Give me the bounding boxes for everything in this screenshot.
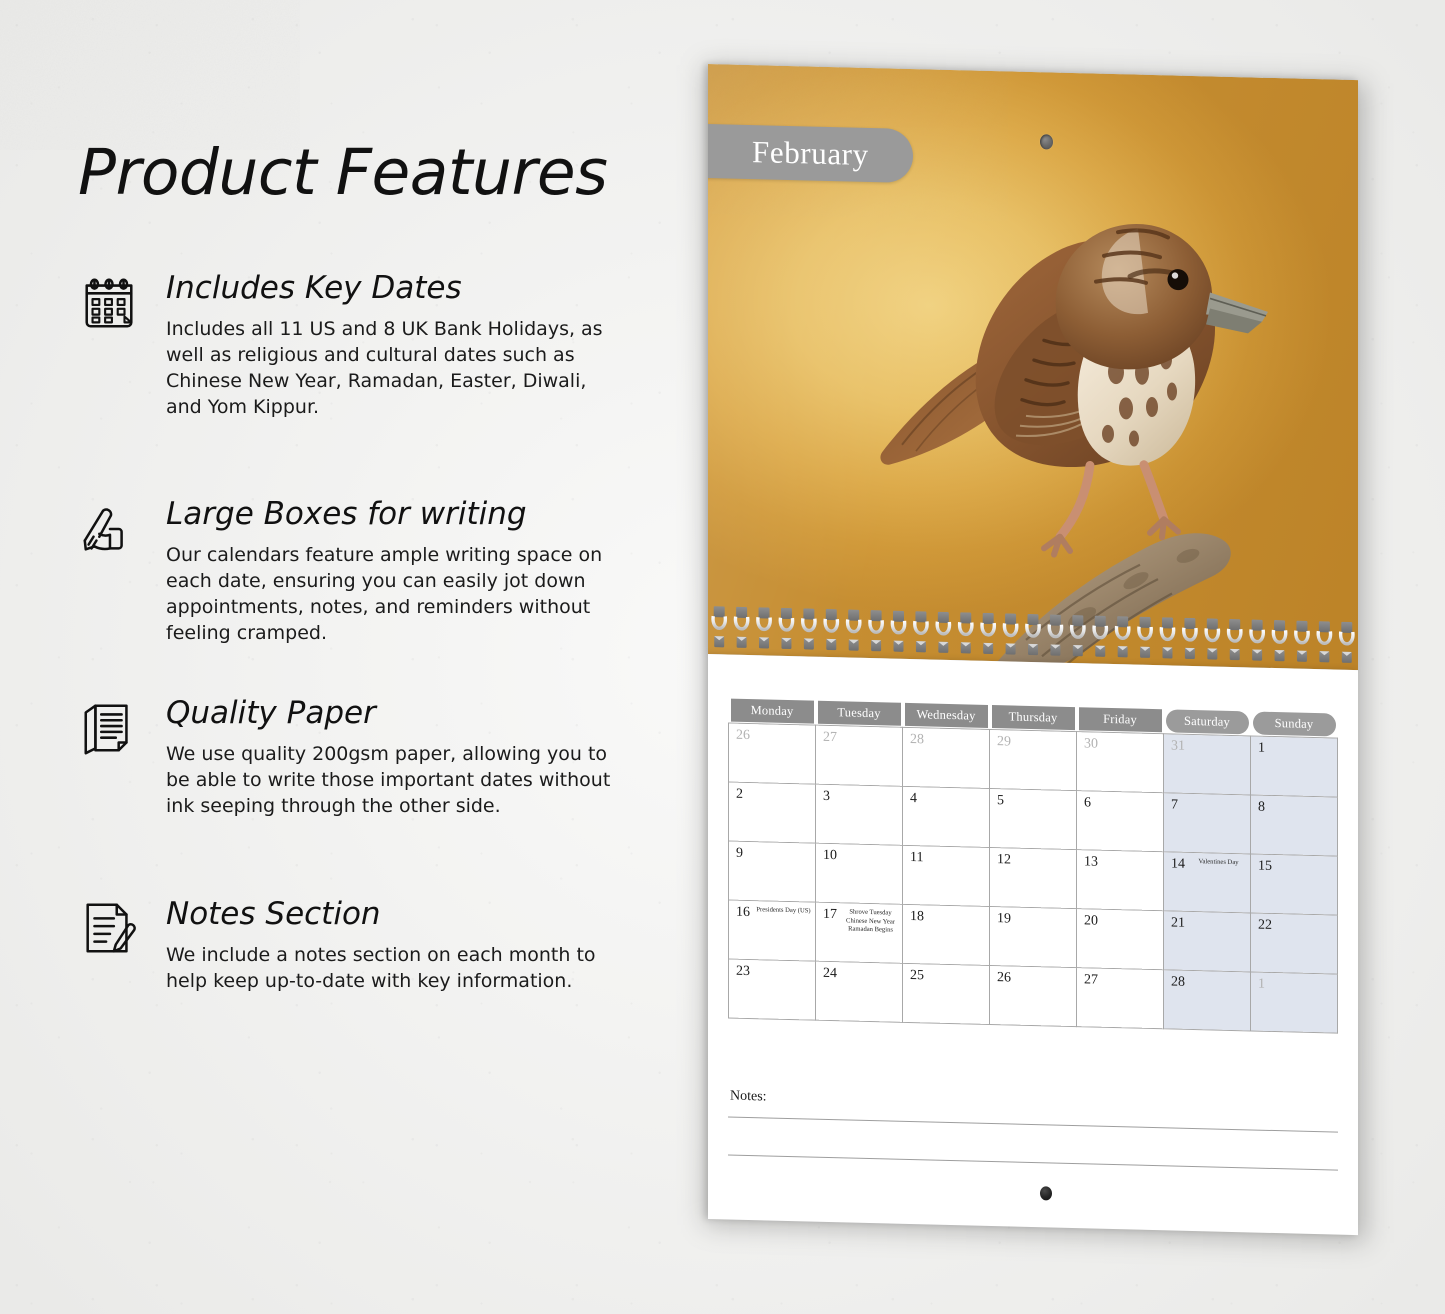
day-header-saturday: Saturday [1164,707,1251,736]
day-header-label: Monday [731,698,814,723]
feature-item-notes-section: Notes Section We include a notes section… [78,898,638,994]
day-number: 22 [1258,918,1272,934]
day-number: 26 [997,970,1011,986]
day-number: 4 [910,791,917,807]
day-number: 9 [736,846,743,862]
calendar-day-cell[interactable]: 11 [903,845,990,906]
calendar-table: MondayTuesdayWednesdayThursdayFridaySatu… [728,696,1338,1033]
calendar-day-cell[interactable]: 19 [990,906,1077,967]
calendar-day-cell[interactable]: 22 [1251,913,1338,974]
day-number: 13 [1084,854,1098,870]
day-event-label: Presidents Day (US) [755,906,812,916]
calendar-day-cell[interactable]: 25 [903,963,990,1024]
calendar-day-cell[interactable]: 3 [816,784,903,845]
day-events: Valentines Day [1190,858,1247,868]
calendar-day-cell[interactable]: 9 [729,841,816,902]
calendar-day-cell[interactable]: 28 [1164,970,1251,1031]
calendar-icon [78,272,140,334]
day-number: 10 [823,848,837,864]
calendar-day-cell[interactable]: 10 [816,843,903,904]
feature-body: We use quality 200gsm paper, allowing yo… [166,741,614,819]
calendar-day-cell[interactable]: 29 [990,729,1077,790]
calendar-day-cell[interactable]: 28 [903,727,990,788]
day-number: 11 [910,850,923,866]
page-title: Product Features [78,136,607,209]
calendar-day-cell[interactable]: 31 [1164,734,1251,795]
notes-section: Notes: [728,1086,1338,1201]
day-number: 30 [1084,736,1098,752]
day-header-label: Sunday [1253,711,1336,736]
month-label: February [752,134,869,173]
feature-item-key-dates: Includes Key Dates Includes all 11 US an… [78,272,638,420]
feature-body: Includes all 11 US and 8 UK Bank Holiday… [166,316,614,420]
day-header-wednesday: Wednesday [903,701,990,730]
day-number: 27 [823,730,837,746]
day-number: 5 [997,793,1004,809]
calendar-day-cell[interactable]: 4 [903,786,990,847]
day-event-label: Ramadan Begins [842,926,899,936]
calendar-product-photo: February MondayTuesdayWedne [700,58,1380,1248]
day-number: 6 [1084,795,1091,811]
notes-label: Notes: [730,1089,767,1106]
day-header-monday: Monday [729,697,816,726]
calendar-grid-page: MondayTuesdayWednesdayThursdayFridaySatu… [708,654,1358,1235]
day-number: 16 [736,905,750,921]
calendar-day-cell[interactable]: 23 [729,959,816,1020]
day-header-label: Friday [1079,707,1162,732]
day-number: 19 [997,911,1011,927]
day-number: 25 [910,968,924,984]
day-header-tuesday: Tuesday [816,699,903,728]
day-events: Presidents Day (US) [755,906,812,916]
calendar-table-zone: MondayTuesdayWednesdayThursdayFridaySatu… [728,696,1338,1033]
day-event-label: Valentines Day [1190,858,1247,868]
feature-heading: Notes Section [166,898,638,931]
calendar-photo-panel: February [708,64,1358,670]
calendar-day-cell[interactable]: 27 [1077,968,1164,1029]
day-header-friday: Friday [1077,705,1164,734]
calendar-day-cell[interactable]: 17Shrove TuesdayChinese New YearRamadan … [816,902,903,963]
day-number: 3 [823,789,830,805]
day-number: 7 [1171,797,1178,813]
calendar-day-cell[interactable]: 18 [903,904,990,965]
day-number: 18 [910,909,924,925]
day-number: 14 [1171,856,1185,872]
day-number: 29 [997,734,1011,750]
calendar-day-cell[interactable]: 21 [1164,911,1251,972]
feature-item-large-boxes: Large Boxes for writing Our calendars fe… [78,498,638,646]
notes-rule-line [728,1116,1338,1132]
day-number: 12 [997,852,1011,868]
calendar-day-cell[interactable]: 1 [1251,972,1338,1033]
calendar-day-cell[interactable]: 26 [990,965,1077,1026]
calendar-day-cell[interactable]: 13 [1077,850,1164,911]
day-header-label: Tuesday [818,700,901,725]
note-pencil-icon [78,898,140,960]
writing-hand-icon [78,498,140,560]
feature-body: We include a notes section on each month… [166,942,614,994]
sparrow-illustration [876,160,1296,670]
month-banner: February [708,123,913,183]
day-header-sunday: Sunday [1251,709,1338,738]
calendar-day-cell[interactable]: 14Valentines Day [1164,852,1251,913]
day-header-label: Wednesday [905,702,988,727]
calendar-day-cell[interactable]: 15 [1251,854,1338,915]
hanging-hole-bottom [1040,1186,1052,1200]
calendar-day-cell[interactable]: 5 [990,788,1077,849]
calendar-day-cell[interactable]: 2 [729,782,816,843]
day-number: 23 [736,964,750,980]
calendar-day-cell[interactable]: 7 [1164,793,1251,854]
day-header-thursday: Thursday [990,703,1077,732]
calendar-day-cell[interactable]: 12 [990,847,1077,908]
feature-heading: Quality Paper [166,697,638,730]
calendar-day-cell[interactable]: 26 [729,723,816,784]
features-column: Product Features Includes Key [0,0,690,1314]
day-number: 1 [1258,977,1265,993]
calendar-day-cell[interactable]: 30 [1077,732,1164,793]
day-number: 21 [1171,915,1185,931]
paper-stack-icon [78,697,140,759]
day-number: 15 [1258,859,1272,875]
hanging-hole-top [1040,134,1053,149]
notes-rule-line [728,1154,1338,1170]
calendar-day-cell[interactable]: 6 [1077,791,1164,852]
calendar-day-cell[interactable]: 24 [816,961,903,1022]
day-header-label: Saturday [1166,709,1249,734]
calendar-day-cell[interactable]: 1 [1251,736,1338,797]
calendar-day-cell[interactable]: 20 [1077,909,1164,970]
day-header-label: Thursday [992,705,1075,730]
day-number: 28 [910,732,924,748]
day-number: 26 [736,728,750,744]
day-number: 31 [1171,738,1185,754]
day-number: 28 [1171,974,1185,990]
feature-heading: Large Boxes for writing [166,498,638,531]
feature-heading: Includes Key Dates [166,272,638,305]
feature-body: Our calendars feature ample writing spac… [166,542,614,646]
feature-item-quality-paper: Quality Paper We use quality 200gsm pape… [78,697,638,819]
calendar-day-cell[interactable]: 16Presidents Day (US) [729,900,816,961]
day-number: 20 [1084,913,1098,929]
day-events: Shrove TuesdayChinese New YearRamadan Be… [842,908,899,936]
day-number: 1 [1258,741,1265,757]
calendar-day-cell[interactable]: 8 [1251,795,1338,856]
day-number: 24 [823,966,837,982]
day-number: 17 [823,907,837,923]
day-number: 8 [1258,800,1265,816]
calendar-day-cell[interactable]: 27 [816,725,903,786]
calendar-body: 2627282930311234567891011121314Valentine… [729,723,1338,1033]
day-number: 27 [1084,972,1098,988]
day-number: 2 [736,787,743,803]
